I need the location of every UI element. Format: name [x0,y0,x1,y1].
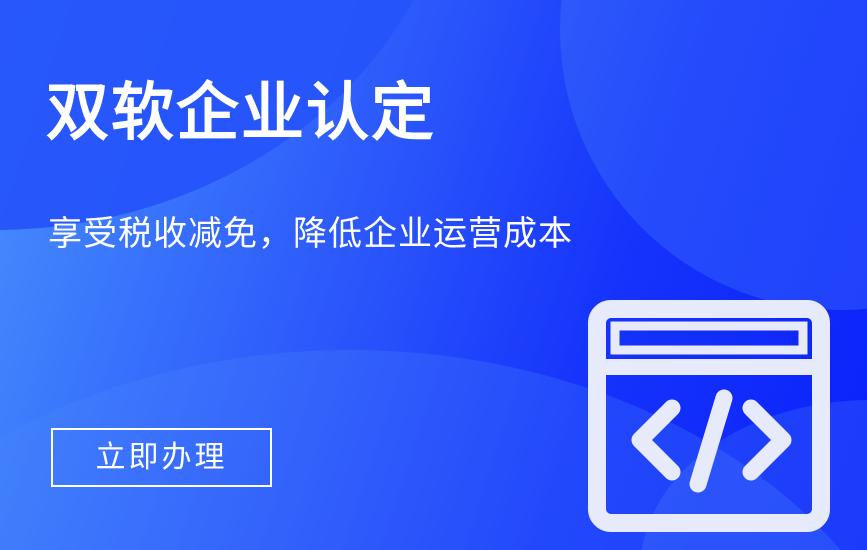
code-window-icon-svg [588,300,830,532]
window-titlebar-bar [615,326,803,350]
banner-content: 双软企业认定 享受税收减免，降低企业运营成本 立即办理 [46,0,606,550]
apply-now-button[interactable]: 立即办理 [51,428,272,487]
promo-banner: 双软企业认定 享受税收减免，降低企业运营成本 立即办理 [0,0,867,550]
banner-headline: 双软企业认定 [46,82,436,145]
slash-glyph [698,398,724,484]
chevron-left-glyph [640,408,672,472]
chevron-right-glyph [751,408,783,472]
banner-subheadline: 享受税收减免，降低企业运营成本 [48,214,573,255]
code-window-icon [588,300,830,532]
window-frame-outline [597,309,821,523]
decor-blob-top-right [560,0,867,310]
